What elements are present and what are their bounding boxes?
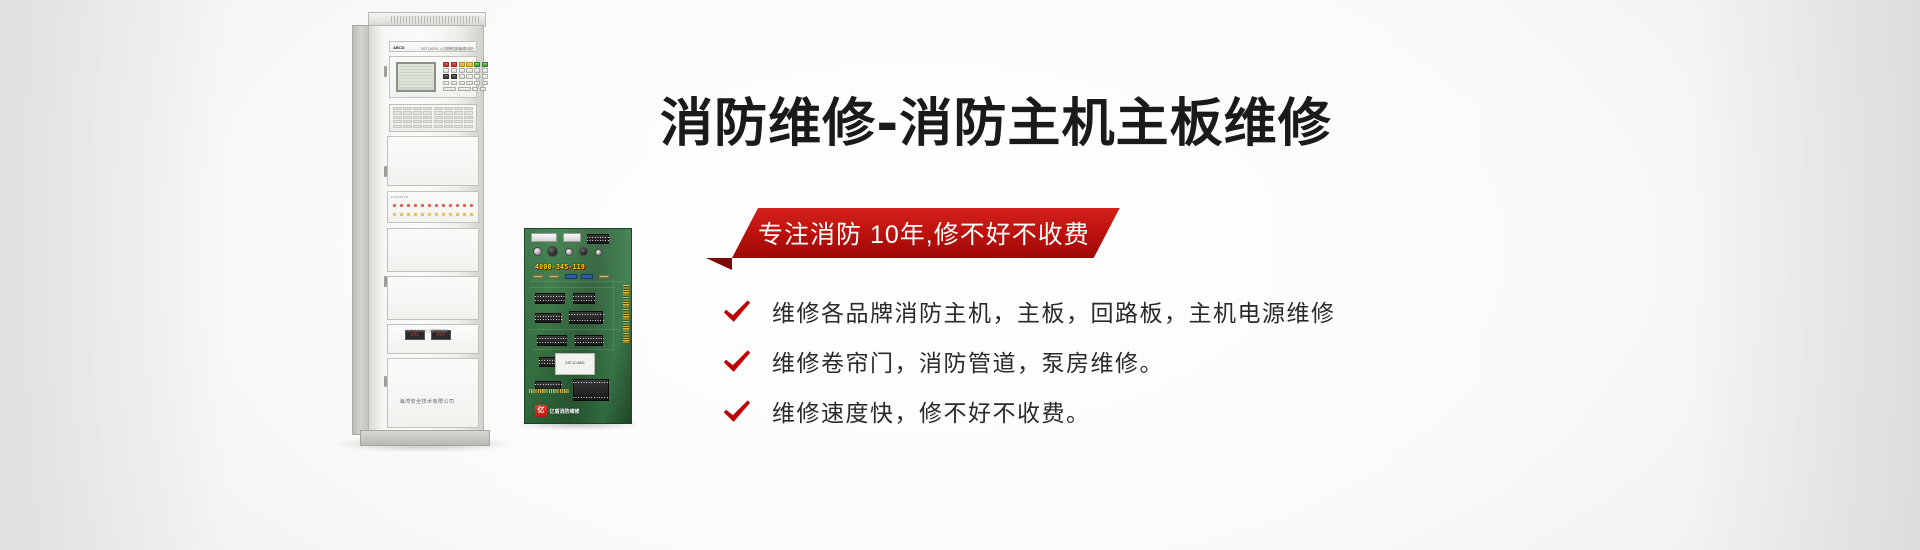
cabinet-brand-mark: ABCD [393,45,405,50]
pcb-gold-finger-connector [623,285,629,343]
banner-content: 消防维修-消防主机主板维修 专注消防 10年,修不好不收费 维修各品牌消防主机，… [660,0,1820,550]
lcd-inner-screen [400,66,432,88]
module-slot [464,116,473,119]
status-led [456,204,459,207]
check-icon [722,346,752,376]
status-led [421,204,424,207]
cabinet-side-panel [352,25,369,435]
list-item: 维修速度快，修不好不收费。 [722,388,1522,434]
cabinet-blank-panel [387,136,479,186]
pcb-chip [587,234,609,244]
status-led [470,213,473,216]
status-led [407,204,410,207]
module-slot [403,107,412,110]
keypad-key[interactable] [459,68,465,73]
cabinet-model-text: GST-QKP01 火灾报警控制器 [369,328,485,333]
check-icon [722,296,752,326]
promo-banner: ABCD GST-QKP01 火灾报警控制器(联动型) [0,0,1920,550]
cabinet-blank-panel [387,358,479,428]
keypad-key[interactable] [443,74,449,79]
module-slot [423,120,432,123]
keypad-row[interactable] [443,81,491,86]
cabinet-company-name: 海湾安全技术有限公司 [369,398,485,405]
pcb-capacitor [533,247,542,256]
pcb-phone-number: 4000-345-119 [535,263,585,271]
module-slot [413,111,422,114]
pcb-logo-text: 亿盾消防维修 [550,408,580,415]
pcb-resistor [581,274,593,279]
module-slot [393,111,402,114]
check-icon [722,396,752,426]
keypad-key[interactable] [482,74,488,79]
pcb-gold-finger-connector [529,389,569,393]
keypad-key[interactable] [443,68,449,73]
status-led [428,213,431,216]
module-slot [464,107,473,110]
keypad-key[interactable] [466,62,472,67]
status-led [449,204,452,207]
pcb-ic-chip [569,311,603,324]
pcb-ic-chip [575,335,603,346]
cabinet-front-body: ABCD GST-QKP01 火灾报警控制器(联动型) [368,25,484,435]
cabinet-lcd-display [396,62,436,92]
module-slot [393,120,402,123]
module-slot [454,125,463,128]
keypad-key[interactable] [474,74,480,79]
pcb-socket-chip [573,379,609,401]
cabinet-brand-strip: GST-QKP01 火灾报警控制器(联动型) [421,46,474,51]
keypad-key[interactable] [472,87,478,92]
status-led [428,204,431,207]
status-led [463,204,466,207]
status-led [400,213,403,216]
keypad-row[interactable] [443,68,491,73]
status-led [463,213,466,216]
cabinet-hinge [384,66,387,77]
module-slot [393,107,402,110]
status-led [400,204,403,207]
keypad-key[interactable] [482,81,488,86]
pcb-label-sticker: GST-LD-8301 [555,353,595,375]
pcb-capacitor [547,246,558,257]
keypad-key[interactable] [443,62,449,67]
status-led [470,204,473,207]
pcb-ic-chip [535,293,565,304]
module-slot [413,125,422,128]
status-led [442,213,445,216]
pcb-trace [613,281,614,351]
keypad-key[interactable] [474,62,480,67]
module-slot [434,111,443,114]
status-led [435,204,438,207]
keypad-row[interactable] [443,62,491,67]
status-led [442,204,445,207]
keypad-key[interactable] [466,68,472,73]
pcb-capacitor [565,248,573,256]
module-slot [454,107,463,110]
keypad-key[interactable] [482,68,488,73]
cabinet-blank-panel [387,276,479,320]
list-item: 维修卷帘门，消防管道，泵房维修。 [722,338,1522,384]
module-slot [444,116,453,119]
keypad-key[interactable] [443,81,449,86]
module-slot [403,125,412,128]
cabinet-led-row [393,204,473,207]
status-led [414,204,417,207]
banner-headline: 消防维修-消防主机主板维修 [660,98,1332,150]
status-led [393,204,396,207]
module-slot [434,107,443,110]
pcb-resistor [599,275,609,278]
module-slot [434,125,443,128]
keypad-key[interactable] [474,81,480,86]
pcb-connector-header [531,233,557,242]
module-slot [423,116,432,119]
keypad-row[interactable] [443,87,491,92]
module-slot [464,111,473,114]
module-slot [413,107,422,110]
pcb-watermark-logo: 亿 亿盾消防维修 [535,405,580,417]
module-slot [454,111,463,114]
fire-alarm-cabinet-image: ABCD GST-QKP01 火灾报警控制器(联动型) [352,12,492,452]
pcb-resistor [565,274,577,279]
list-item-label: 维修各品牌消防主机，主板，回路板，主机电源维修 [772,294,1336,328]
list-item-label: 维修速度快，修不好不收费。 [772,394,1091,428]
module-slot [423,107,432,110]
led-bay-label: 1 2 3 4 5 6 7 8 [391,196,408,199]
keypad-key[interactable] [443,87,456,92]
pcb-resistor [533,275,543,278]
banner-bullet-list: 维修各品牌消防主机，主板，回路板，主机电源维修 维修卷帘门，消防管道，泵房维修。… [722,288,1522,438]
module-slot [413,116,422,119]
keypad-key[interactable] [451,62,457,67]
pcb-trace [529,329,621,330]
cabinet-module-slot-grid [393,107,473,128]
keypad-key[interactable] [459,81,465,86]
cabinet-keypad[interactable] [443,62,491,92]
module-slot [444,107,453,110]
keypad-key[interactable] [451,74,457,79]
list-item-label: 维修卷帘门，消防管道，泵房维修。 [772,344,1164,378]
module-slot [423,111,432,114]
module-slot [464,120,473,123]
module-slot [403,111,412,114]
module-slot [403,120,412,123]
module-slot [454,116,463,119]
pcb-trace [533,349,613,350]
keypad-key[interactable] [466,81,472,86]
pcb-connector-header [563,233,581,242]
pcb-ic-chip [535,313,561,323]
pcb-trace [529,287,615,288]
keypad-key[interactable] [459,62,465,67]
keypad-key[interactable] [451,81,457,86]
module-slot [413,120,422,123]
keypad-key[interactable] [480,87,486,92]
pcb-trace [529,281,625,282]
pcb-board: 4000-345-119 GST-LD-8301 亿 亿盾消防维修 [524,228,632,424]
module-slot [434,116,443,119]
status-led [407,213,410,216]
keypad-key[interactable] [458,87,471,92]
pcb-ic-chip [537,335,567,346]
keypad-key[interactable] [482,62,488,67]
keypad-key[interactable] [474,68,480,73]
module-slot [393,125,402,128]
keypad-key[interactable] [459,74,465,79]
pcb-resistor [549,275,559,278]
module-slot [444,120,453,123]
module-slot [464,125,473,128]
keypad-key[interactable] [451,68,457,73]
module-slot [454,120,463,123]
module-slot [444,125,453,128]
ribbon-fold-tail [706,258,732,270]
pcb-logo-badge: 亿 [535,405,547,417]
pcb-ic-chip [573,293,595,304]
status-led [393,213,396,216]
cabinet-base-plinth [360,430,490,446]
status-led [421,213,424,216]
status-led [414,213,417,216]
mainboard-pcb-image: 4000-345-119 GST-LD-8301 亿 亿盾消防维修 [524,228,632,424]
keypad-key[interactable] [466,74,472,79]
module-slot [403,116,412,119]
pcb-capacitor [579,247,588,256]
status-led [456,213,459,216]
module-slot [444,111,453,114]
status-led [435,213,438,216]
pcb-capacitor [595,249,602,256]
module-slot [423,125,432,128]
module-slot [434,120,443,123]
cabinet-led-row [393,213,473,216]
list-item: 维修各品牌消防主机，主板，回路板，主机电源维修 [722,288,1522,334]
module-slot [393,116,402,119]
status-led [449,213,452,216]
cabinet-blank-panel [387,228,479,272]
banner-ribbon: 专注消防 10年,修不好不收费 [732,208,1120,258]
keypad-row[interactable] [443,74,491,79]
cabinet-top-vent [391,16,479,23]
